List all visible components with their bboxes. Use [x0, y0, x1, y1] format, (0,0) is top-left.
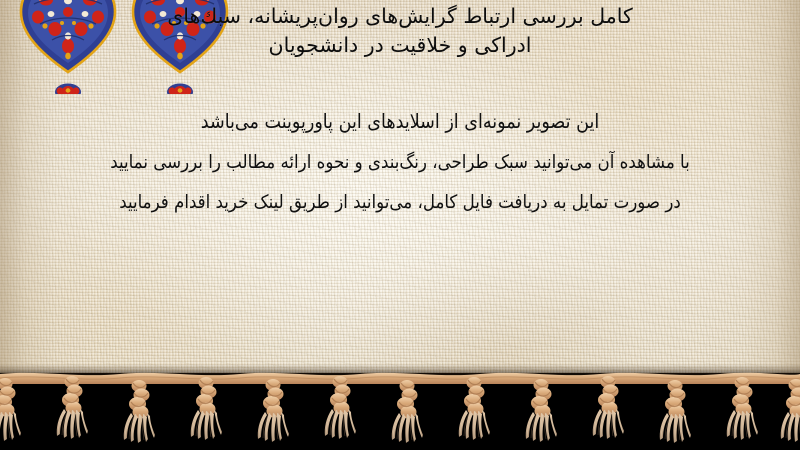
slide-title-line-2: ادراکی و خلاقیت در دانشجویان — [16, 31, 784, 60]
tassel-row — [0, 376, 800, 443]
slide-title: کامل بررسی ارتباط گرایش‌های روان‌پریشانه… — [16, 2, 784, 60]
body-line-1: این تصویر نمونه‌ای از اسلایدهای این پاور… — [0, 112, 800, 132]
body-line-2: با مشاهده آن می‌توانید سبک طراحی، رنگ‌بن… — [0, 154, 800, 173]
slide-body: این تصویر نمونه‌ای از اسلایدهای این پاور… — [0, 112, 800, 235]
body-line-3: در صورت تمایل به دریافت فایل کامل، می‌تو… — [0, 194, 800, 213]
fringe-tassels-svg — [0, 368, 800, 450]
carpet-fringe — [0, 368, 800, 450]
slide-canvas: کامل بررسی ارتباط گرایش‌های روان‌پریشانه… — [0, 0, 800, 450]
slide-title-line-1: کامل بررسی ارتباط گرایش‌های روان‌پریشانه… — [16, 2, 784, 31]
